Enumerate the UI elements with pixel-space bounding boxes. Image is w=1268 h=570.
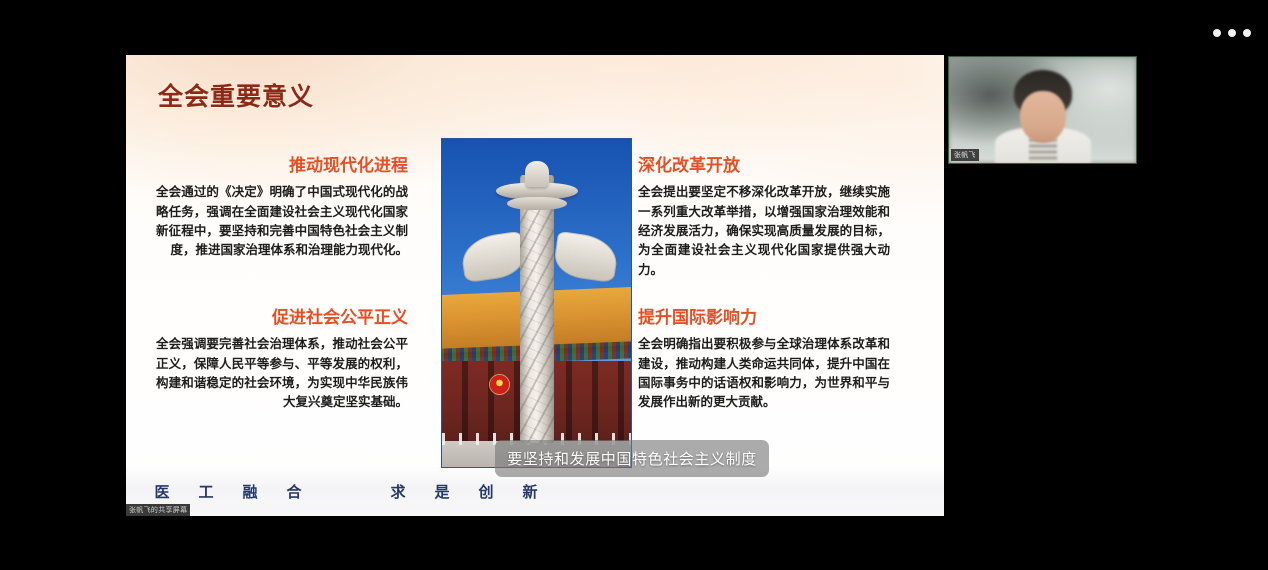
section-block-deepen-reform: 深化改革开放 全会提出要坚定不移深化改革开放，继续实施一系列重大改革举措，以增强…: [638, 155, 890, 280]
slide-title: 全会重要意义: [158, 77, 314, 113]
more-dot-2: [1228, 29, 1236, 37]
footer-char: 创: [464, 481, 508, 502]
section-body: 全会明确指出要积极参与全球治理体系改革和建设，推动构建人类命运共同体，提升中国在…: [638, 335, 890, 413]
section-block-international-influence: 提升国际影响力 全会明确指出要积极参与全球治理体系改革和建设，推动构建人类命运共…: [638, 307, 890, 413]
footer-char: 医: [140, 481, 184, 502]
footer-char: 是: [420, 481, 464, 502]
footer-char: 求: [376, 481, 420, 502]
photo-chengluopan-lower: [507, 197, 567, 210]
footer-char: 新: [508, 481, 552, 502]
footer-group-right: 求 是 创 新: [376, 481, 552, 502]
video-person-face: [1020, 91, 1066, 143]
participant-name-label: 张帆飞: [951, 149, 979, 161]
section-block-push-modernization: 推动现代化进程 全会通过的《决定》明确了中国式现代化的战略任务，强调在全面建设社…: [156, 155, 408, 261]
photo-dragon-carving: [520, 175, 554, 443]
subtitle-caption: 要坚持和发展中国特色社会主义制度: [495, 440, 769, 477]
more-options-button[interactable]: [1210, 24, 1254, 42]
footer-char: 工: [184, 481, 228, 502]
footer-char: 合: [272, 481, 316, 502]
photo-huabiao-pillar: [520, 175, 554, 443]
more-dot-1: [1213, 29, 1221, 37]
conference-window: 全会重要意义 推动现代化进程 全会通过的《决定》明确了中国式现代化的战略任务，强…: [0, 0, 1268, 570]
section-heading: 促进社会公平正义: [156, 307, 408, 328]
more-dot-3: [1243, 29, 1251, 37]
participant-video-tile[interactable]: 张帆飞: [948, 56, 1137, 164]
footer-group-left: 医 工 融 合: [140, 481, 316, 502]
section-body: 全会强调要完善社会治理体系，推动社会公平正义，保障人民平等参与、平等发展的权利，…: [156, 335, 408, 413]
section-block-social-fairness: 促进社会公平正义 全会强调要完善社会治理体系，推动社会公平正义，保障人民平等参与…: [156, 307, 408, 413]
section-body: 全会通过的《决定》明确了中国式现代化的战略任务，强调在全面建设社会主义现代化国家…: [156, 183, 408, 261]
slide-photo-huabiao: [441, 138, 632, 468]
photo-national-emblem: [490, 375, 509, 394]
section-heading: 深化改革开放: [638, 155, 890, 176]
section-heading: 提升国际影响力: [638, 307, 890, 328]
slide-footer: 医 工 融 合 求 是 创 新: [126, 481, 944, 502]
footer-char: 融: [228, 481, 272, 502]
screen-share-watermark: 张帆飞的共享屏幕: [126, 504, 190, 516]
section-body: 全会提出要坚定不移深化改革开放，继续实施一系列重大改革举措，以增强国家治理效能和…: [638, 183, 890, 280]
photo-stone-lion: [525, 161, 549, 187]
section-heading: 推动现代化进程: [156, 155, 408, 176]
